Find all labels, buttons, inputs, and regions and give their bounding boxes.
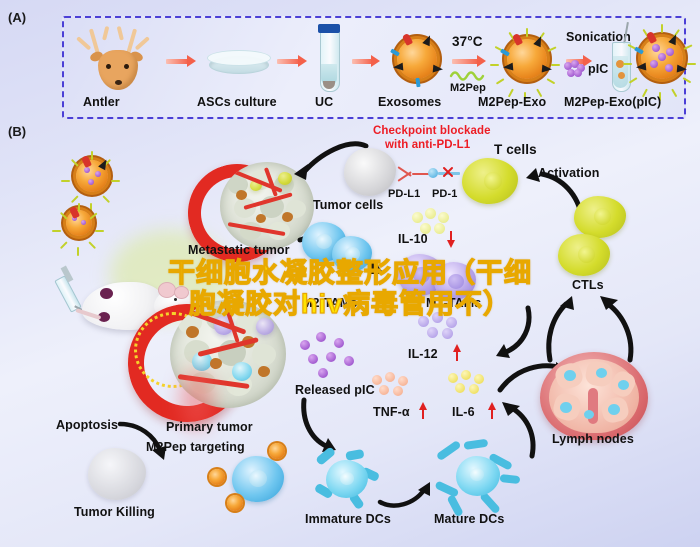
immature-dc-cell xyxy=(312,448,382,508)
label-checkpoint-blockade-line1: Checkpoint blockade xyxy=(373,125,491,137)
free-nanoparticle-small xyxy=(58,202,102,246)
figure-canvas: (A) Antler ASCs culture UC xyxy=(0,0,700,547)
label-lymph-nodes: Lymph nodes xyxy=(552,432,634,446)
ascs-culture-dish xyxy=(207,48,269,74)
label-t-cells: T cells xyxy=(494,142,537,157)
label-metastatic-tumor: Metastatic tumor xyxy=(188,243,290,257)
label-uc: UC xyxy=(315,95,333,109)
label-il6: IL-6 xyxy=(452,405,475,419)
free-nanoparticle-large xyxy=(66,150,120,204)
primary-tumor-illustration xyxy=(128,296,308,416)
arrow-ascs-to-uc xyxy=(277,57,307,66)
il12-cytokine-dots xyxy=(418,312,464,340)
arrow-antler-to-ascs xyxy=(166,57,196,66)
ctl-cell-lower xyxy=(558,234,610,276)
label-apoptosis: Apoptosis xyxy=(56,418,118,432)
label-activation: Activation xyxy=(538,166,599,180)
m1-tam-cell-b xyxy=(434,262,476,300)
mature-dc-cell xyxy=(434,440,520,512)
blockade-x-icon xyxy=(442,166,454,178)
m2pep-exo-pic-illustration xyxy=(626,22,696,92)
label-il12: IL-12 xyxy=(408,347,438,361)
label-checkpoint-blockade-line2: with anti-PD-L1 xyxy=(385,139,470,151)
targeting-nanoparticle-2 xyxy=(206,466,228,488)
arrow-exosome-to-m2pep-exo xyxy=(452,57,486,66)
panel-b-tag: (B) xyxy=(8,124,26,139)
arrow-il12-to-ctl xyxy=(470,306,538,362)
panel-a-tag: (A) xyxy=(8,10,26,25)
targeting-nanoparticle-1 xyxy=(266,440,288,462)
tnfa-up-arrow-icon xyxy=(418,402,428,419)
uc-centrifuge-tube xyxy=(316,24,342,92)
il12-up-arrow-icon xyxy=(452,344,462,361)
apoptotic-tumor-cell xyxy=(88,448,146,500)
label-m2pep-targeting: M2Pep targeting xyxy=(146,440,245,454)
label-m2-tams: M2-TAMs xyxy=(302,296,357,310)
label-m2pep-exo: M2Pep-Exo xyxy=(478,95,546,109)
label-antler: Antler xyxy=(83,95,120,109)
label-primary-tumor: Primary tumor xyxy=(166,420,253,434)
label-ctls: CTLs xyxy=(572,278,604,292)
pic-molecule-cluster xyxy=(564,60,586,76)
label-exosomes: Exosomes xyxy=(378,95,441,109)
ctl-cell-upper xyxy=(574,196,626,238)
pdl1-antibody-complex xyxy=(392,162,462,190)
label-released-pic: Released pIC xyxy=(295,383,375,397)
label-pdl1: PD-L1 xyxy=(388,188,420,200)
label-immature-dcs: Immature DCs xyxy=(305,512,391,526)
label-tnf-alpha: TNF-α xyxy=(373,405,410,419)
arrow-uc-to-exosomes xyxy=(352,57,380,66)
label-pd1: PD-1 xyxy=(432,188,457,200)
targeting-nanoparticle-3 xyxy=(224,492,246,514)
label-mature-dcs: Mature DCs xyxy=(434,512,504,526)
label-temperature: 37°C xyxy=(452,34,483,49)
m2pep-exosome-particle xyxy=(494,26,560,92)
antler-deer-illustration xyxy=(82,26,160,92)
tnfa-cytokine-dots xyxy=(372,372,416,398)
arrow-immature-to-mature-dc xyxy=(378,478,438,512)
lymph-node-illustration xyxy=(540,352,650,444)
released-pic-dots xyxy=(300,330,362,378)
exosome-particle xyxy=(390,32,444,86)
t-cell xyxy=(462,158,518,204)
label-il10: IL-10 xyxy=(398,232,428,246)
il6-cytokine-dots xyxy=(448,370,492,396)
label-ascs-culture: ASCs culture xyxy=(197,95,277,109)
m2pep-peptide-squiggle xyxy=(450,68,490,82)
label-tumor-killing: Tumor Killing xyxy=(74,505,155,519)
il10-down-arrow-icon xyxy=(446,231,456,248)
label-m2pep-exo-pic: M2Pep-Exo(pIC) xyxy=(564,95,661,109)
label-tumor-cells: Tumor cells xyxy=(313,198,383,212)
label-m2pep: M2Pep xyxy=(450,82,486,94)
